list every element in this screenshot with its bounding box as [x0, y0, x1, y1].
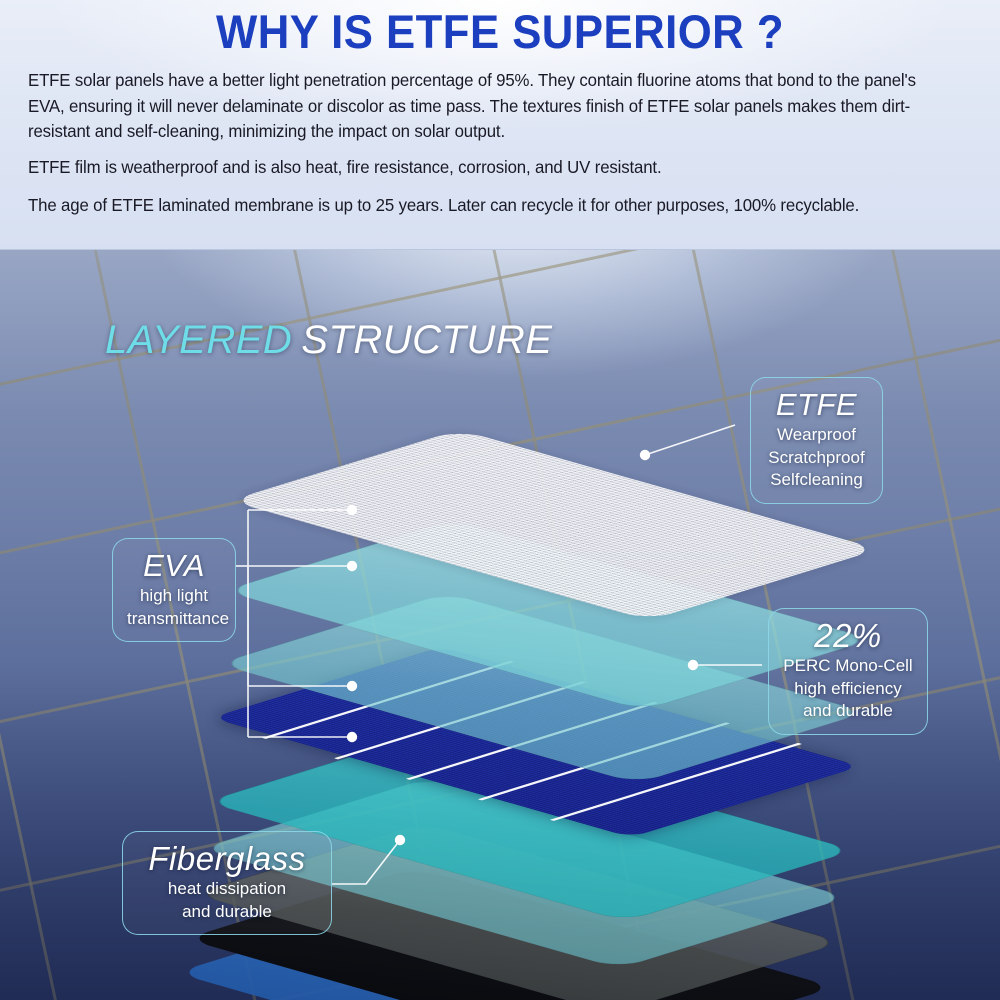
callout-eva[interactable]: EVA high light transmittance: [112, 538, 236, 642]
callout-perc-line-1: PERC Mono-Cell: [783, 655, 913, 678]
callout-fiberglass[interactable]: Fiberglass heat dissipation and durable: [122, 831, 332, 935]
callout-etfe-line-2: Scratchproof: [765, 447, 868, 470]
callout-perc-line-2: high efficiency: [783, 678, 913, 701]
callout-perc-line-3: and durable: [783, 700, 913, 723]
callout-fiberglass-title: Fiberglass: [137, 840, 317, 878]
heading-layered: LAYERED: [105, 318, 292, 362]
infographic-page: WHY IS ETFE SUPERIOR ? ETFE solar panels…: [0, 0, 1000, 1000]
callout-fiberglass-line-2: and durable: [137, 901, 317, 924]
callout-eva-line-1: high light: [127, 585, 221, 608]
callout-eva-title: EVA: [127, 547, 221, 585]
heading-structure: STRUCTURE: [301, 318, 552, 362]
callout-perc-title: 22%: [783, 617, 913, 655]
callout-perc[interactable]: 22% PERC Mono-Cell high efficiency and d…: [768, 608, 928, 735]
diagram-heading: LAYEREDSTRUCTURE: [105, 318, 552, 362]
callout-etfe-title: ETFE: [765, 386, 868, 424]
callout-etfe-line-1: Wearproof: [765, 424, 868, 447]
callout-eva-line-2: transmittance: [127, 608, 221, 631]
callout-etfe-line-3: Selfcleaning: [765, 469, 868, 492]
callout-fiberglass-line-1: heat dissipation: [137, 878, 317, 901]
callout-etfe[interactable]: ETFE Wearproof Scratchproof Selfcleaning: [750, 377, 883, 504]
